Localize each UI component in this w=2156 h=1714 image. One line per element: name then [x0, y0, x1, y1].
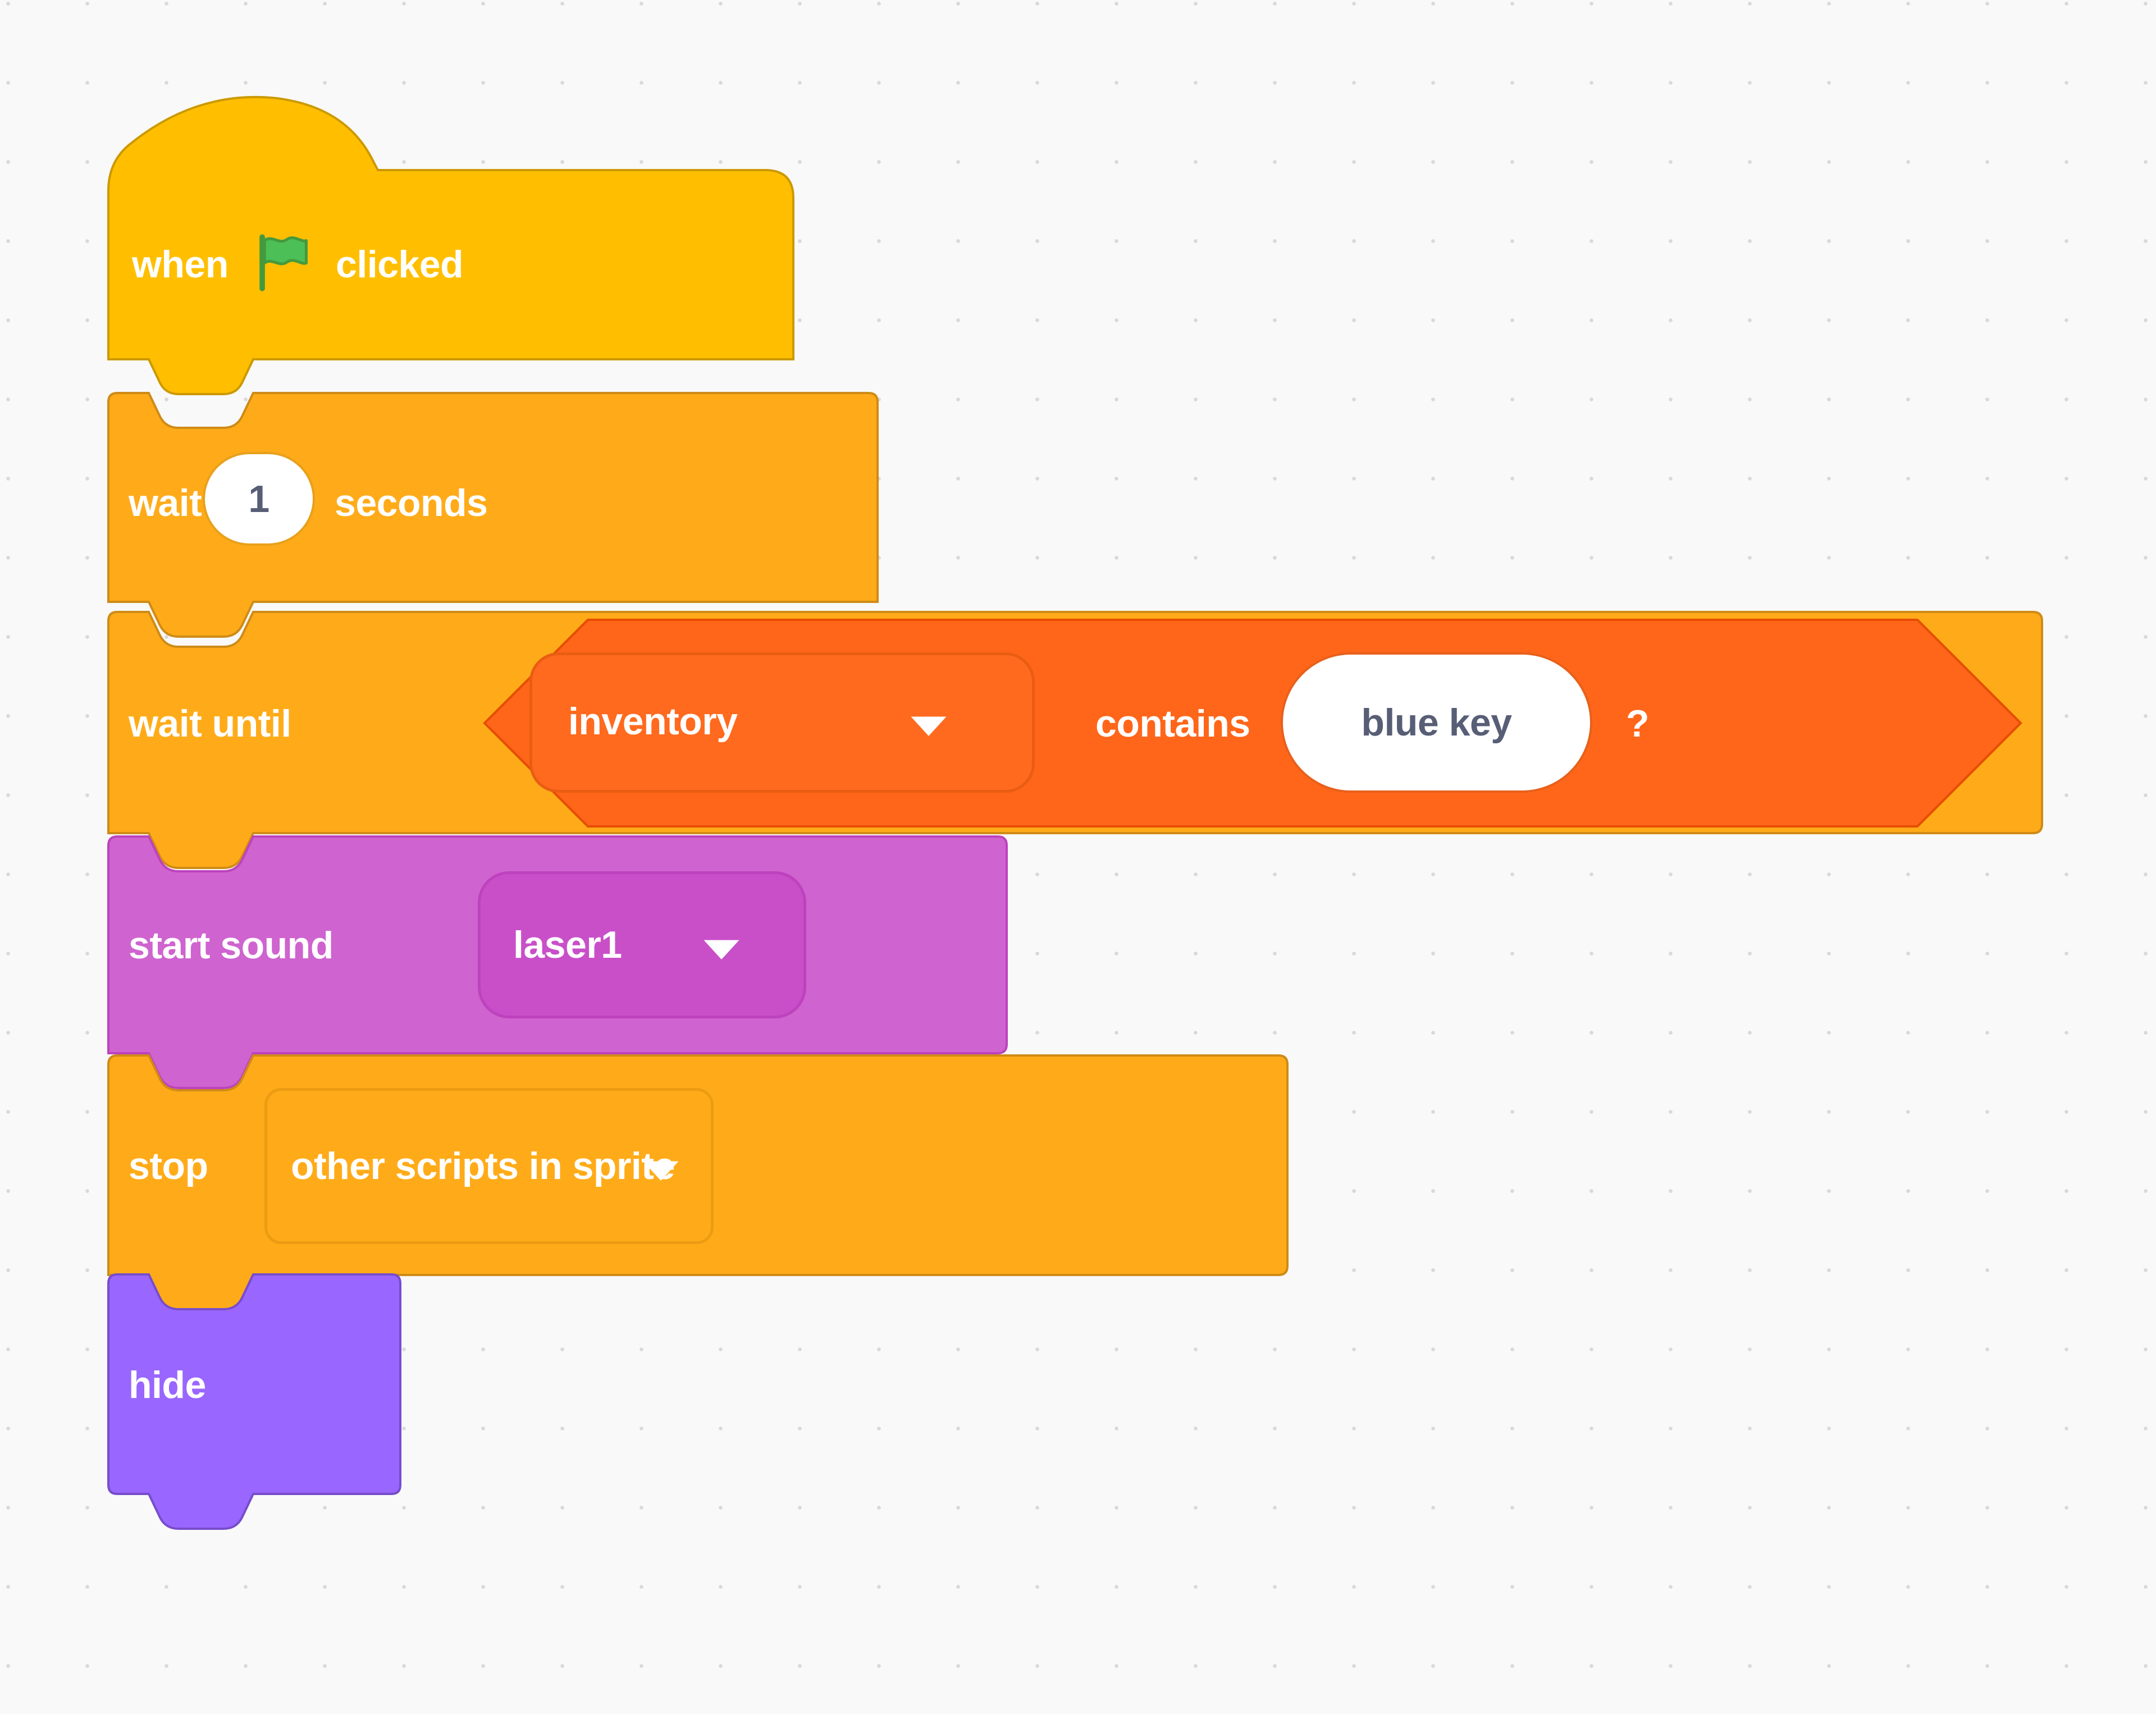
clicked-label: clicked [336, 245, 463, 284]
block-shape-stack-end [108, 1274, 420, 1538]
sound-dropdown[interactable]: laser1 [478, 871, 806, 1018]
sound-dropdown-value: laser1 [513, 926, 622, 964]
wait-seconds-value: 1 [205, 454, 313, 543]
stop-option-dropdown[interactable]: other scripts in sprite [264, 1088, 714, 1244]
block-wait-seconds[interactable]: wait 1 seconds [108, 393, 883, 618]
seconds-label: seconds [335, 484, 487, 522]
block-hide[interactable]: hide [108, 1274, 412, 1499]
wait-label: wait [129, 484, 202, 522]
chevron-down-icon [701, 937, 742, 965]
question-mark-label: ? [1626, 705, 1649, 743]
chevron-down-icon [908, 714, 949, 741]
block-start-sound[interactable]: start sound laser1 [108, 837, 1012, 1058]
contains-label: contains [1095, 705, 1250, 743]
blue-key-input[interactable]: blue key [1281, 652, 1592, 793]
block-list-contains[interactable]: inventory contains blue key ? [483, 619, 2022, 825]
inventory-dropdown-value: inventory [568, 702, 738, 741]
when-label: when [132, 245, 229, 284]
stop-label: stop [129, 1147, 208, 1185]
stop-option-value: other scripts in sprite [291, 1147, 675, 1185]
chevron-down-icon [641, 1158, 681, 1186]
inventory-dropdown[interactable]: inventory [529, 652, 1035, 793]
scratch-workspace-canvas[interactable]: when clicked wait 1 seconds [0, 0, 2156, 1714]
wait-until-label: wait until [129, 705, 291, 743]
start-sound-label: start sound [129, 926, 334, 965]
hide-label: hide [129, 1366, 206, 1404]
block-wait-until[interactable]: wait until inventory contains [108, 612, 2051, 839]
blue-key-value: blue key [1283, 655, 1590, 790]
block-when-flag-clicked[interactable]: when clicked [108, 95, 796, 393]
wait-seconds-input[interactable]: 1 [203, 452, 315, 546]
green-flag-icon [253, 232, 315, 296]
block-stop[interactable]: stop other scripts in sprite [108, 1055, 1293, 1280]
